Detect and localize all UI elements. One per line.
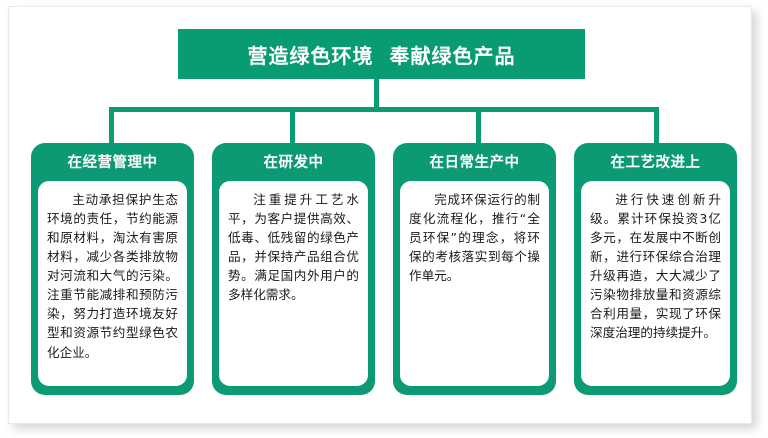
connector-drop-4 [654, 107, 659, 147]
category-cards-row: 在经营管理中 主动承担保护生态环境的责任，节约能源和原材料，淘汰有害原材料，减少… [31, 143, 737, 395]
category-card-header: 在经营管理中 [38, 150, 187, 181]
diagram-title-banner: 营造绿色环境 奉献绿色产品 [178, 29, 585, 79]
category-card-management: 在经营管理中 主动承担保护生态环境的责任，节约能源和原材料，淘汰有害原材料，减少… [31, 143, 194, 395]
category-card-header: 在日常生产中 [400, 150, 549, 181]
category-card-body: 主动承担保护生态环境的责任，节约能源和原材料，淘汰有害原材料，减少各类排放物对河… [38, 181, 187, 387]
category-card-text: 主动承担保护生态环境的责任，节约能源和原材料，淘汰有害原材料，减少各类排放物对河… [47, 190, 178, 362]
connector-stem [374, 79, 379, 107]
connector-drop-3 [476, 107, 481, 147]
category-card-text: 进行快速创新升级。累计环保投资3亿多元，在发展中不断创新，进行环保综合治理升级再… [590, 190, 721, 343]
page-title: 营造绿色环境 奉献绿色产品 [248, 40, 516, 69]
category-card-text: 完成环保运行的制度化流程化，推行“全员环保”的理念，将环保的考核落实到每个操作单… [409, 190, 540, 286]
category-card-daily-production: 在日常生产中 完成环保运行的制度化流程化，推行“全员环保”的理念，将环保的考核落… [393, 143, 556, 395]
category-card-process-improvement: 在工艺改进上 进行快速创新升级。累计环保投资3亿多元，在发展中不断创新，进行环保… [574, 143, 737, 395]
diagram-canvas: 营造绿色环境 奉献绿色产品 在经营管理中 主动承担保护生态环境的责任，节约能源和… [8, 6, 752, 424]
category-card-header: 在工艺改进上 [581, 150, 730, 181]
connector-drop-1 [109, 107, 114, 147]
category-card-body: 注重提升工艺水平，为客户提供高效、低毒、低残留的绿色产品，并保持产品组合优势。满… [219, 181, 368, 387]
category-card-header: 在研发中 [219, 150, 368, 181]
category-card-body: 完成环保运行的制度化流程化，推行“全员环保”的理念，将环保的考核落实到每个操作单… [400, 181, 549, 387]
connector-horizontal-bus [109, 107, 659, 112]
category-card-text: 注重提升工艺水平，为客户提供高效、低毒、低残留的绿色产品，并保持产品组合优势。满… [228, 190, 359, 305]
category-card-rnd: 在研发中 注重提升工艺水平，为客户提供高效、低毒、低残留的绿色产品，并保持产品组… [212, 143, 375, 395]
category-card-body: 进行快速创新升级。累计环保投资3亿多元，在发展中不断创新，进行环保综合治理升级再… [581, 181, 730, 387]
connector-drop-2 [290, 107, 295, 147]
